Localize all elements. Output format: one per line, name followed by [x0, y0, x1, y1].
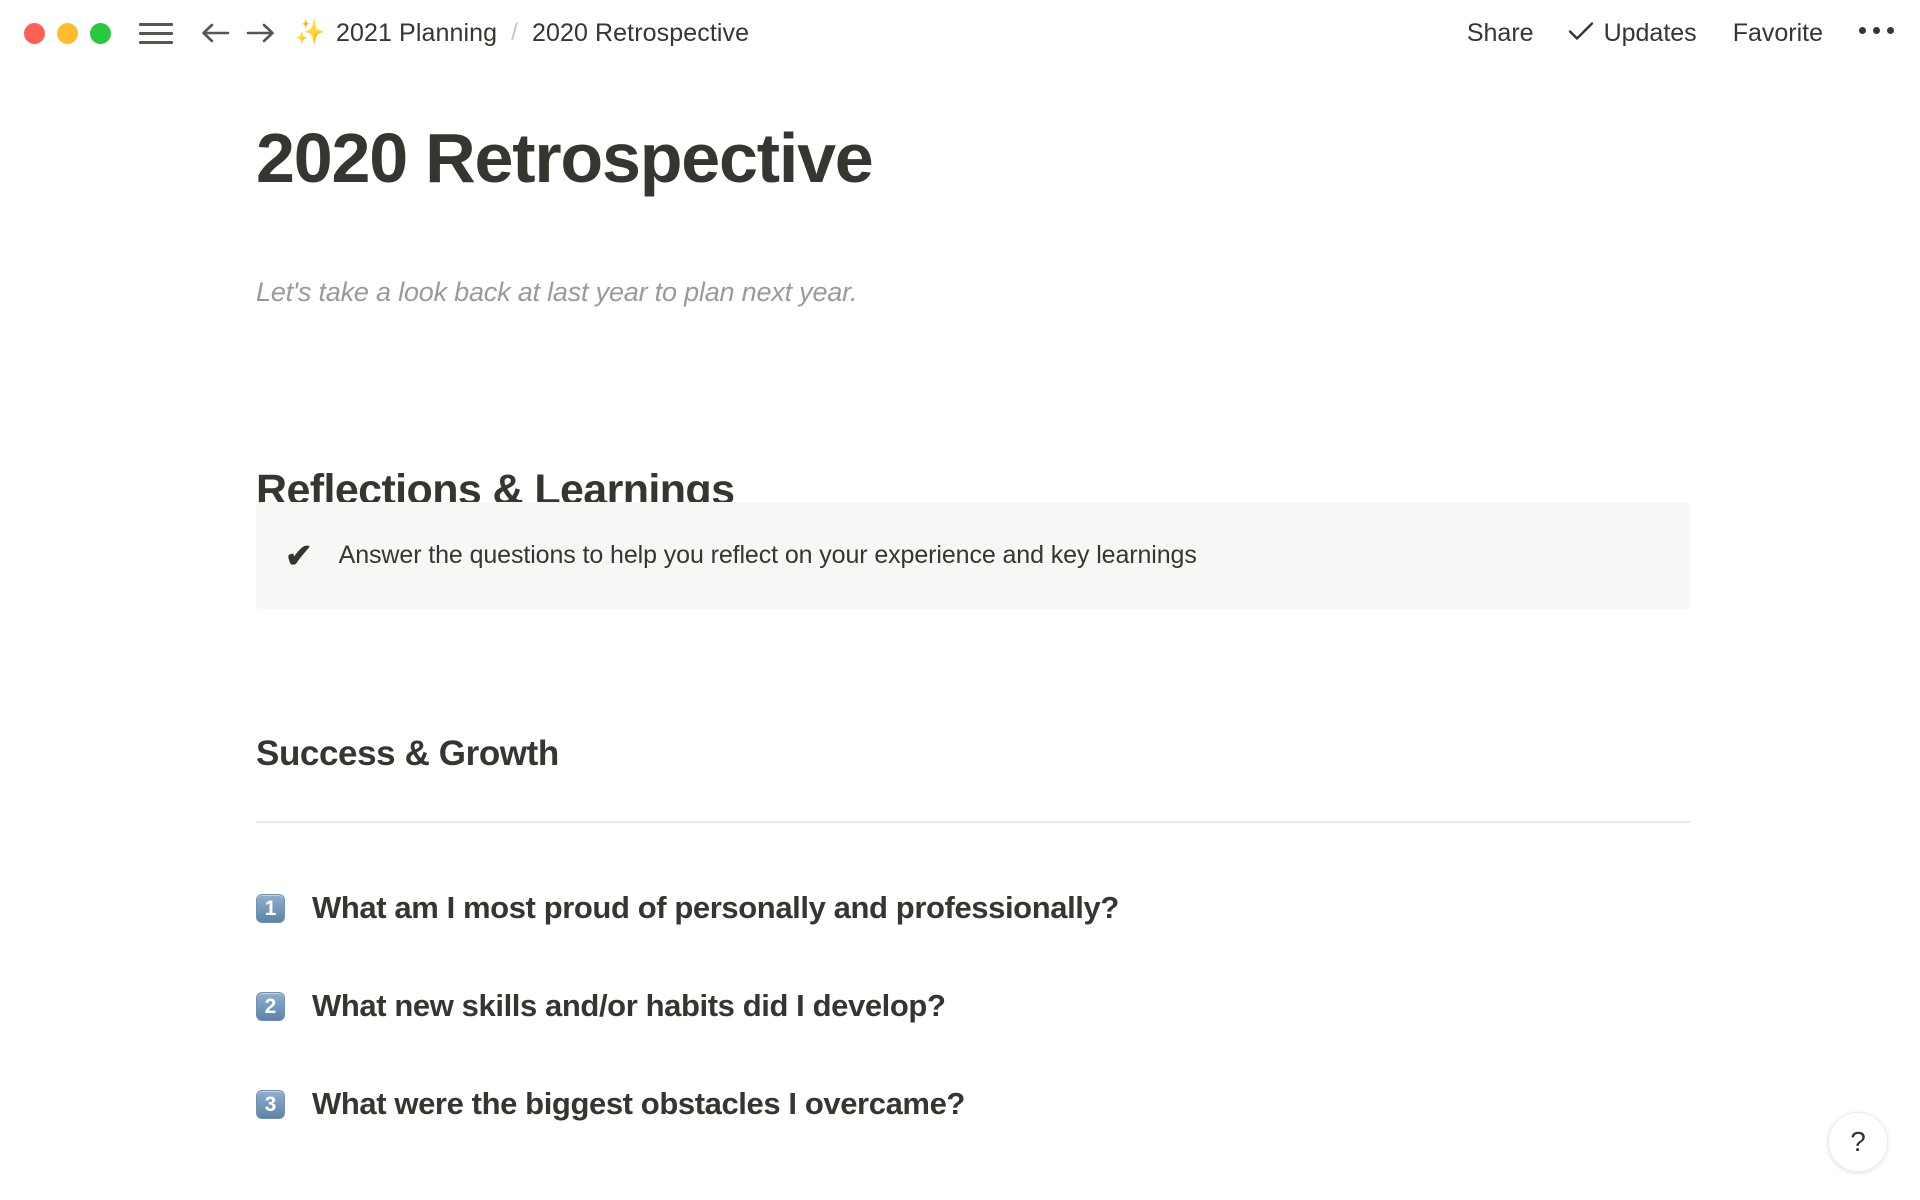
updates-button[interactable]: Updates	[1568, 19, 1697, 48]
help-button[interactable]: ?	[1828, 1112, 1888, 1172]
hamburger-icon[interactable]	[139, 20, 173, 46]
hamburger-line	[139, 23, 173, 26]
check-icon	[1568, 19, 1594, 48]
page-title[interactable]: 2020 Retrospective	[256, 122, 873, 196]
maximize-window-button[interactable]	[90, 23, 111, 44]
minimize-window-button[interactable]	[57, 23, 78, 44]
ellipsis-dot	[1873, 27, 1880, 34]
sparkles-icon: ✨	[295, 21, 325, 45]
breadcrumb-separator: /	[511, 19, 518, 47]
list-item-label: What am I most proud of personally and p…	[312, 890, 1119, 926]
arrow-right-icon[interactable]	[243, 15, 279, 51]
ellipsis-dot	[1887, 27, 1894, 34]
breadcrumb-parent[interactable]: 2021 Planning	[336, 19, 497, 48]
question-list: 1 What am I most proud of personally and…	[256, 859, 1690, 1153]
favorite-button[interactable]: Favorite	[1727, 15, 1829, 52]
breadcrumb-current[interactable]: 2020 Retrospective	[532, 19, 749, 48]
callout-block[interactable]: ✔ Answer the questions to help you refle…	[256, 502, 1690, 609]
navigation-arrows	[197, 15, 279, 51]
list-item[interactable]: 1 What am I most proud of personally and…	[256, 859, 1690, 957]
ellipsis-icon[interactable]	[1859, 27, 1894, 40]
keycap-number-icon: 3	[256, 1090, 285, 1119]
keycap-number-icon: 1	[256, 894, 285, 923]
list-item[interactable]: 2 What new skills and/or habits did I de…	[256, 957, 1690, 1055]
arrow-left-icon[interactable]	[197, 15, 233, 51]
list-item[interactable]: 3 What were the biggest obstacles I over…	[256, 1055, 1690, 1153]
list-item-label: What were the biggest obstacles I overca…	[312, 1086, 965, 1122]
keycap-number-icon: 2	[256, 992, 285, 1021]
window-titlebar: ✨ 2021 Planning / 2020 Retrospective Sha…	[0, 0, 1920, 66]
close-window-button[interactable]	[24, 23, 45, 44]
callout-text: Answer the questions to help you reflect…	[339, 541, 1197, 570]
traffic-lights	[24, 23, 111, 44]
updates-label: Updates	[1604, 19, 1697, 48]
hamburger-line	[139, 41, 173, 44]
hamburger-line	[139, 32, 173, 35]
page-subtitle[interactable]: Let's take a look back at last year to p…	[256, 277, 857, 308]
list-item-label: What new skills and/or habits did I deve…	[312, 988, 946, 1024]
check-mark-emoji: ✔	[285, 539, 313, 572]
horizontal-divider	[256, 821, 1690, 823]
ellipsis-dot	[1859, 27, 1866, 34]
share-button[interactable]: Share	[1461, 15, 1540, 52]
topbar-actions: Share Updates Favorite	[1461, 15, 1894, 52]
breadcrumb: ✨ 2021 Planning / 2020 Retrospective	[295, 19, 749, 48]
section-heading-success[interactable]: Success & Growth	[256, 734, 559, 774]
